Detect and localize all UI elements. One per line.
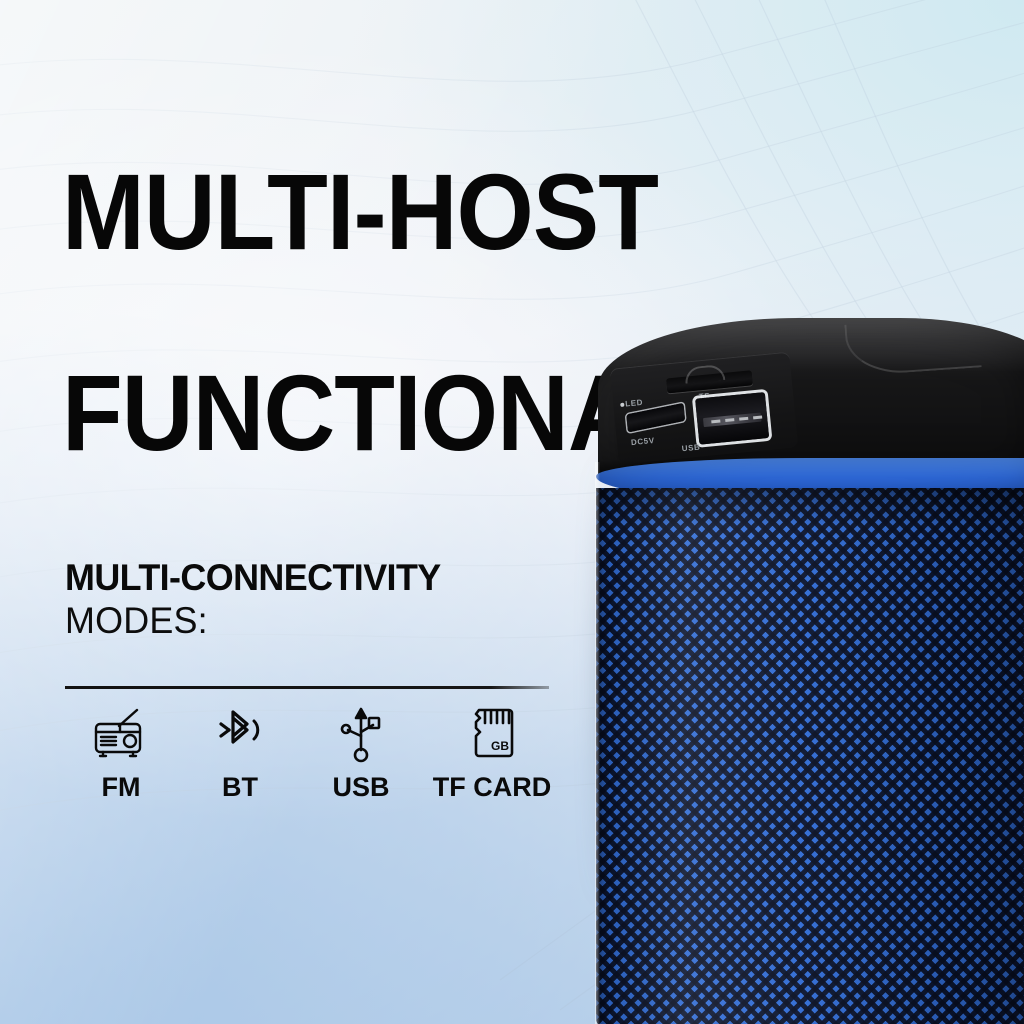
speaker-mesh-grille — [596, 488, 1024, 1024]
connectivity-modes-list: FM BT — [62, 704, 562, 803]
mode-label-usb: USB — [332, 772, 389, 803]
usb-a-port — [695, 392, 769, 444]
list-item-bt: BT — [180, 704, 300, 803]
mode-label-fm: FM — [102, 772, 141, 803]
memory-card-icon: GB — [467, 704, 517, 766]
port-label-led: LED — [625, 398, 644, 409]
speaker-top-cap: LED TF DC5V USB — [598, 318, 1024, 476]
port-label-usb: USB — [681, 443, 700, 454]
product-marketing-banner: MULTI-HOST FUNCTIONALITY LED TF DC5V — [0, 0, 1024, 1024]
led-indicator — [620, 403, 624, 407]
mode-label-bt: BT — [222, 772, 258, 803]
mesh-top-shadow — [596, 488, 1024, 528]
mesh-cylinder-shading — [596, 488, 1024, 1024]
subheading-light: MODES: — [65, 598, 550, 643]
product-image-speaker: LED TF DC5V USB — [592, 312, 1024, 1024]
bluetooth-icon — [213, 704, 267, 766]
port-label-dc5v: DC5V — [631, 436, 656, 447]
port-panel: LED TF DC5V USB — [610, 352, 798, 465]
subheading-block: MULTI-CONNECTIVITY MODES: — [65, 558, 565, 643]
headline-line-1: MULTI-HOST — [62, 162, 890, 262]
radio-icon — [91, 704, 151, 766]
speaker-edge-highlight — [595, 462, 600, 1024]
section-divider — [65, 686, 549, 689]
subheading-strong: MULTI-CONNECTIVITY — [65, 558, 550, 598]
list-item-tf-card: GB TF CARD — [422, 704, 562, 803]
mode-label-tf-card: TF CARD — [433, 772, 551, 803]
usb-icon — [338, 704, 384, 766]
memory-card-capacity-text: GB — [491, 739, 509, 753]
list-item-usb: USB — [300, 704, 422, 803]
list-item-fm: FM — [62, 704, 180, 803]
